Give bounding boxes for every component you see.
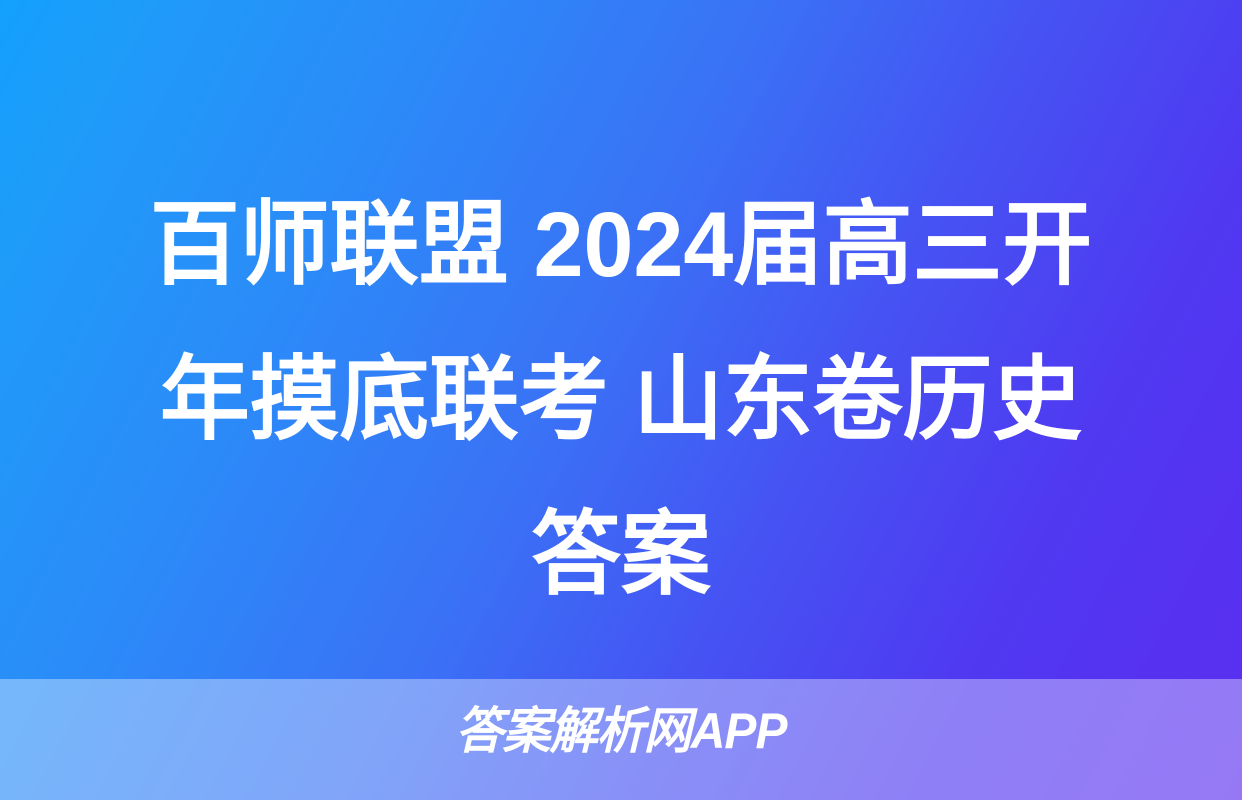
page-title: 百师联盟 2024届高三开 年摸底联考 山东卷历史 答案	[0, 168, 1242, 633]
title-line-2: 年摸底联考 山东卷历史	[55, 323, 1188, 478]
title-line-3: 答案	[55, 478, 1188, 633]
watermark-text: 答案解析网APP	[25, 703, 1217, 759]
title-line-1: 百师联盟 2024届高三开	[55, 168, 1188, 323]
poster-canvas: 百师联盟 2024届高三开 年摸底联考 山东卷历史 答案 答案解析网APP	[0, 0, 1242, 800]
